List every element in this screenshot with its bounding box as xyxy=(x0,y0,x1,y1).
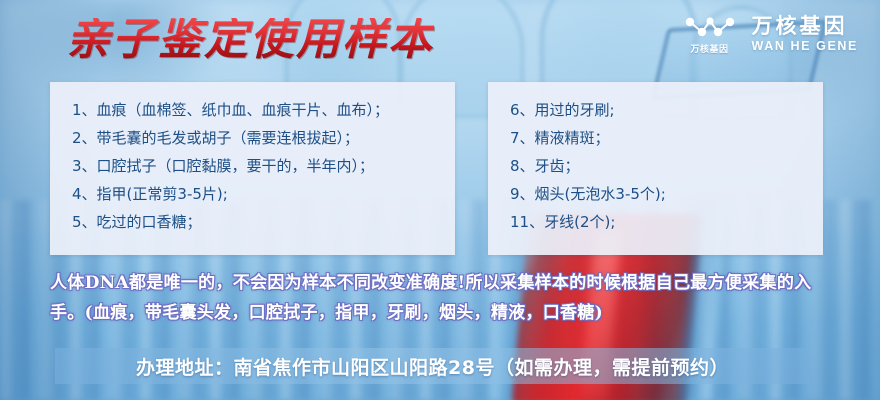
list-item: 11、牙线(2个); xyxy=(488,208,823,236)
dna-molecule-icon xyxy=(682,14,738,40)
list-item: 6、用过的牙刷; xyxy=(488,96,823,124)
logo-wordmark: 万核基因 WAN HE GENE xyxy=(752,15,859,54)
logo-mark: 万核基因 xyxy=(682,14,738,55)
sample-list-right: 6、用过的牙刷; 7、精液精斑； 8、牙齿； 9、烟头(无泡水3-5个); 11… xyxy=(488,96,823,236)
list-item: 7、精液精斑； xyxy=(488,124,823,152)
list-item: 2、带毛囊的毛发或胡子（需要连根拔起）； xyxy=(50,124,455,152)
logo-mark-label: 万核基因 xyxy=(690,42,728,55)
list-item: 3、口腔拭子（口腔黏膜，要干的，半年内）； xyxy=(50,152,455,180)
address-bar: 办理地址：南省焦作市山阳区山阳路28号（如需办理，需提前预约） xyxy=(55,348,810,384)
list-item: 1、血痕（血棉签、纸巾血、血痕干片、血布）； xyxy=(50,96,455,124)
sample-list-left: 1、血痕（血棉签、纸巾血、血痕干片、血布）； 2、带毛囊的毛发或胡子（需要连根拔… xyxy=(50,96,455,236)
address-text: 办理地址：南省焦作市山阳区山阳路28号（如需办理，需提前预约） xyxy=(136,353,729,380)
poster-banner: 万核基因 万核基因 WAN HE GENE 亲子鉴定使用样本 1、血痕（血棉签、… xyxy=(0,0,880,400)
logo-brand-en: WAN HE GENE xyxy=(752,39,859,53)
sample-panel-left: 1、血痕（血棉签、纸巾血、血痕干片、血布）； 2、带毛囊的毛发或胡子（需要连根拔… xyxy=(50,82,455,255)
logo-brand-cn: 万核基因 xyxy=(752,15,848,39)
poster-title: 亲子鉴定使用样本 xyxy=(66,18,434,62)
list-item: 8、牙齿； xyxy=(488,152,823,180)
list-item: 9、烟头(无泡水3-5个); xyxy=(488,180,823,208)
note-paragraph: 人体DNA都是唯一的，不会因为样本不同改变准确度!所以采集样本的时候根据自己最方… xyxy=(50,268,840,328)
brand-logo: 万核基因 万核基因 WAN HE GENE xyxy=(682,14,859,55)
sample-panels: 1、血痕（血棉签、纸巾血、血痕干片、血布）； 2、带毛囊的毛发或胡子（需要连根拔… xyxy=(50,82,823,255)
list-item: 4、指甲(正常剪3-5片); xyxy=(50,180,455,208)
list-item: 5、吃过的口香糖； xyxy=(50,208,455,236)
sample-panel-right: 6、用过的牙刷; 7、精液精斑； 8、牙齿； 9、烟头(无泡水3-5个); 11… xyxy=(488,82,823,255)
